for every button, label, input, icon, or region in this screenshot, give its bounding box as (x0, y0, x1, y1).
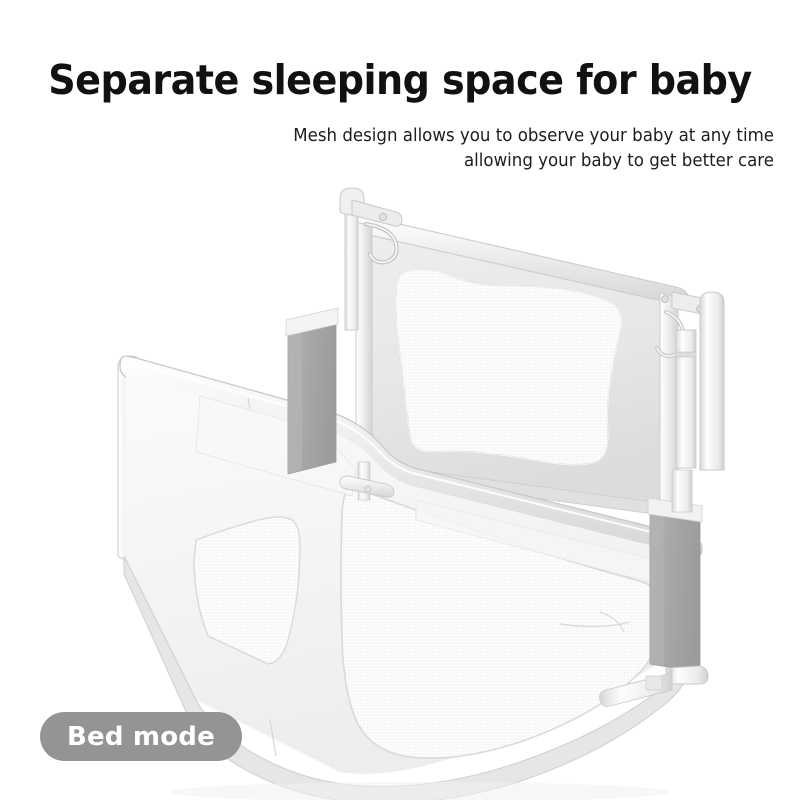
right-support-tube (672, 470, 692, 512)
top-left-hinge-screw (379, 213, 386, 220)
right-leg-adjust-collar (676, 352, 696, 357)
left-anchor-plate (286, 308, 338, 474)
product-illustration (0, 0, 800, 800)
right-leg-tube-outer (700, 292, 724, 470)
right-anchor-plate (648, 498, 702, 672)
center-support-screw (365, 486, 371, 492)
product-promo-image: Separate sleeping space for baby Mesh de… (0, 0, 800, 800)
back-panel-mesh-window (395, 269, 622, 465)
ground-shadow (170, 782, 670, 800)
right-anchor-plate-fold (650, 512, 664, 666)
top-right-hinge-screw-a (662, 296, 669, 303)
right-leg-tube-inner (676, 330, 696, 468)
status-badge: Bed mode (40, 712, 242, 761)
left-anchor-plate-fold (288, 330, 302, 474)
top-left-post (345, 205, 358, 330)
bottom-foot-collar (646, 676, 662, 690)
